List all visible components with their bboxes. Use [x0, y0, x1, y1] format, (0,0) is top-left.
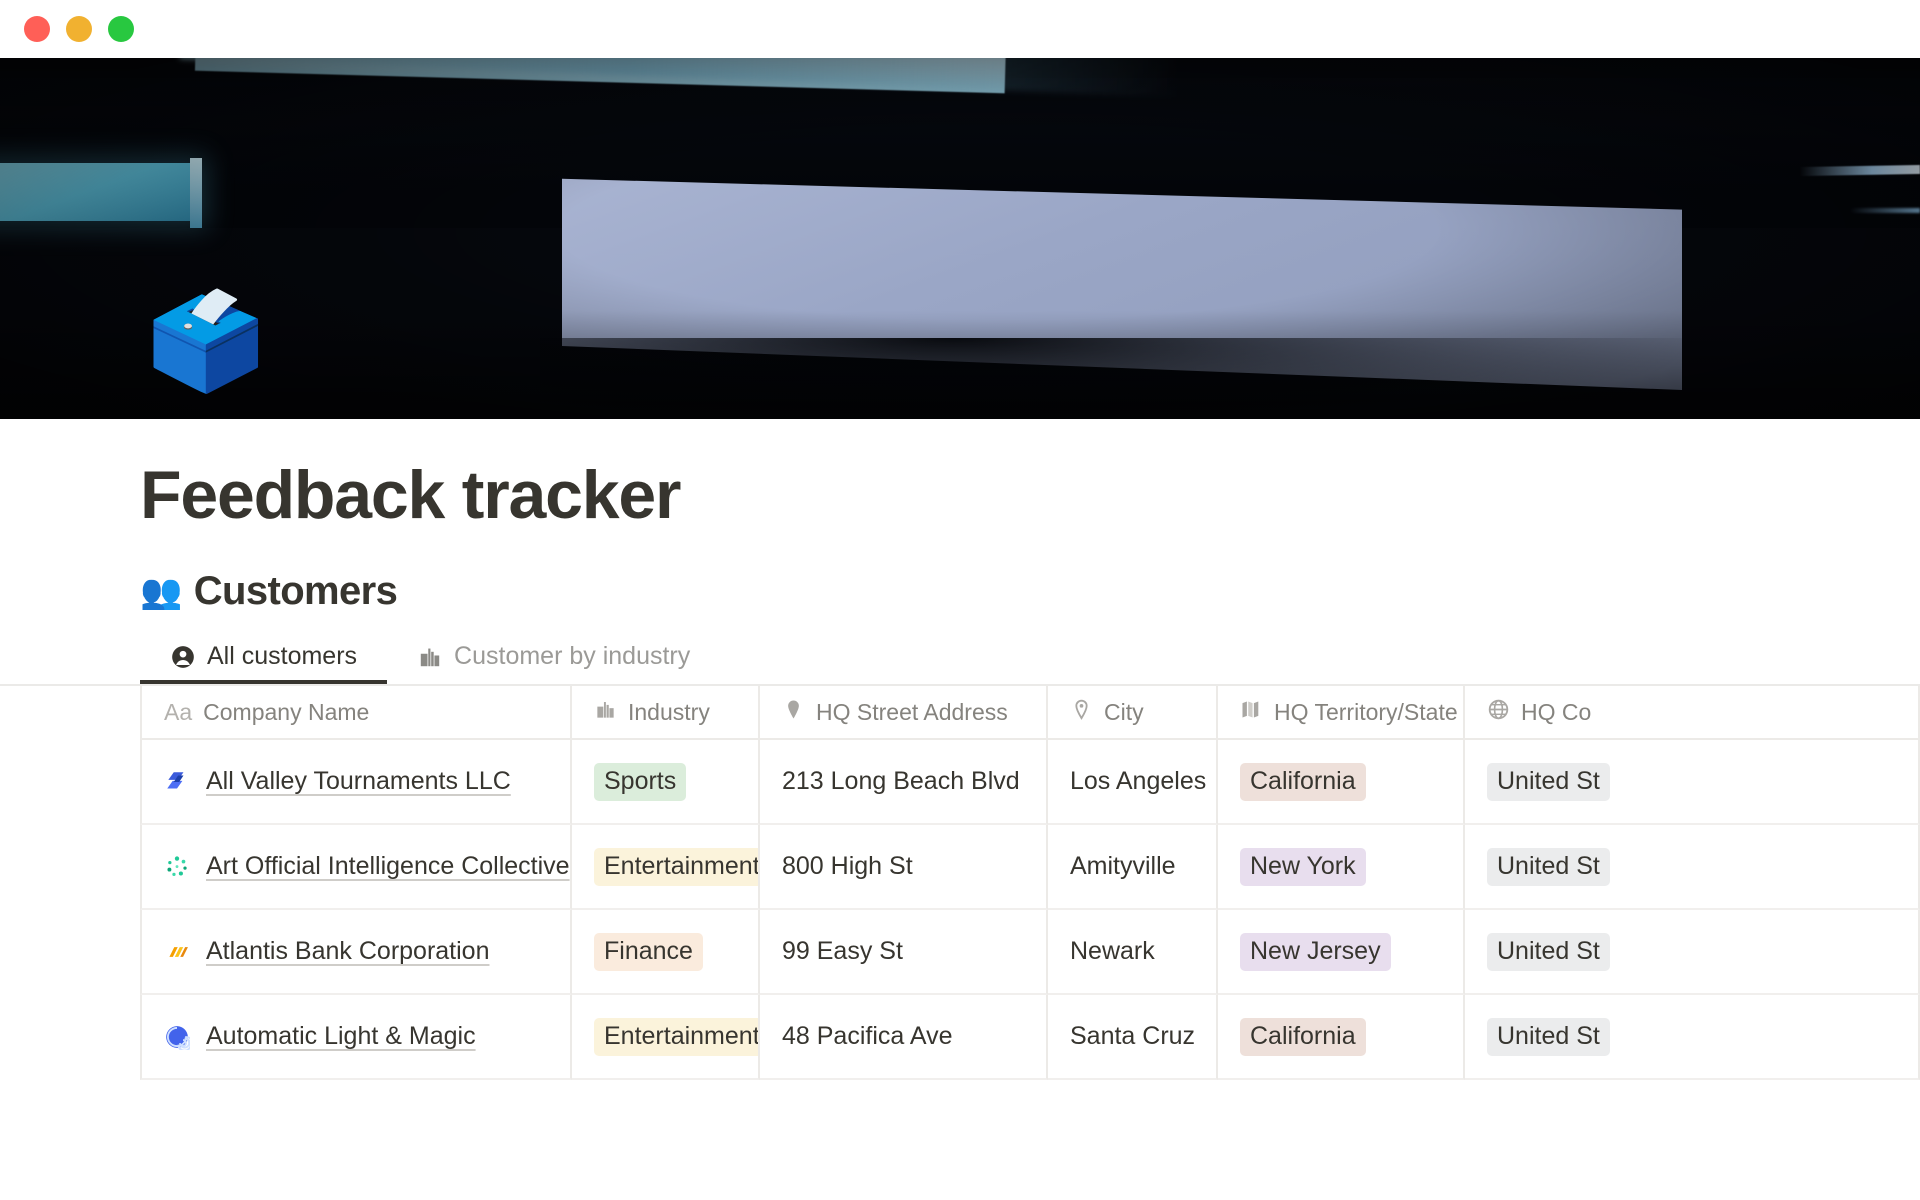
- globe-icon: [1487, 698, 1510, 727]
- section-heading-customers: 👥 Customers: [140, 569, 397, 614]
- window-titlebar: [0, 0, 1920, 58]
- orange-slashes-icon: [164, 939, 190, 965]
- aa-text-icon: Aa: [164, 699, 192, 726]
- teal-dot-ring-icon: [164, 854, 190, 880]
- cell-industry[interactable]: Finance: [572, 910, 760, 995]
- state-tag: New Jersey: [1240, 933, 1391, 971]
- building-icon: [594, 698, 617, 727]
- country-tag: United St: [1487, 763, 1610, 801]
- cell-hq-country[interactable]: United St: [1465, 740, 1920, 825]
- cell-hq-territory-state[interactable]: New Jersey: [1218, 910, 1465, 995]
- folded-map-icon: [1240, 698, 1263, 727]
- column-header-hq-street-address-label: HQ Street Address: [816, 699, 1008, 726]
- country-tag: United St: [1487, 1018, 1610, 1056]
- cell-industry[interactable]: Entertainment: [572, 995, 760, 1080]
- cell-company-name[interactable]: All Valley Tournaments LLC: [140, 740, 572, 825]
- cell-hq-country[interactable]: United St: [1465, 995, 1920, 1080]
- table-row[interactable]: Art Official Intelligence Collective Ent…: [140, 825, 1920, 910]
- cell-hq-country[interactable]: United St: [1465, 825, 1920, 910]
- tab-all-customers-label: All customers: [207, 642, 357, 671]
- tab-all-customers[interactable]: All customers: [140, 642, 387, 685]
- industry-tag: Sports: [594, 763, 686, 801]
- cell-hq-street-address[interactable]: 800 High St: [760, 825, 1048, 910]
- state-tag: California: [1240, 1018, 1366, 1056]
- cell-hq-territory-state[interactable]: New York: [1218, 825, 1465, 910]
- column-header-hq-territory-state[interactable]: HQ Territory/State: [1218, 686, 1465, 740]
- column-header-city-label: City: [1104, 699, 1144, 726]
- column-header-hq-territory-state-label: HQ Territory/State: [1274, 699, 1458, 726]
- tab-customer-by-industry[interactable]: Customer by industry: [387, 642, 720, 685]
- cell-city[interactable]: Los Angeles: [1048, 740, 1218, 825]
- cover-vignette: [0, 58, 1920, 419]
- column-header-hq-country-label: HQ Co: [1521, 699, 1591, 726]
- person-circle-icon: [170, 644, 196, 670]
- map-pin-filled-icon: [782, 698, 805, 727]
- cell-hq-territory-state[interactable]: California: [1218, 995, 1465, 1080]
- column-header-company-name[interactable]: Aa Company Name: [140, 686, 572, 740]
- table-row[interactable]: Automatic Light & Magic Entertainment 48…: [140, 995, 1920, 1080]
- company-name-link[interactable]: All Valley Tournaments LLC: [206, 767, 511, 796]
- column-header-hq-street-address[interactable]: HQ Street Address: [760, 686, 1048, 740]
- cell-company-name[interactable]: Automatic Light & Magic: [140, 995, 572, 1080]
- cell-city[interactable]: Newark: [1048, 910, 1218, 995]
- column-header-city[interactable]: City: [1048, 686, 1218, 740]
- building-icon: [417, 644, 443, 670]
- state-tag: New York: [1240, 848, 1366, 886]
- page-title: Feedback tracker: [140, 456, 680, 534]
- cell-hq-country[interactable]: United St: [1465, 910, 1920, 995]
- blue-spiral-icon: [164, 1024, 190, 1050]
- company-name-link[interactable]: Art Official Intelligence Collective: [206, 852, 570, 881]
- cell-company-name[interactable]: Atlantis Bank Corporation: [140, 910, 572, 995]
- industry-tag: Entertainment: [594, 1018, 760, 1056]
- blue-stacked-parallelograms-icon: [164, 769, 190, 795]
- database-view-tabs: All customers Customer by industry: [140, 639, 720, 685]
- ballot-box-icon[interactable]: 🗳️: [146, 293, 266, 389]
- minimize-window-button[interactable]: [66, 16, 92, 42]
- country-tag: United St: [1487, 848, 1610, 886]
- cell-hq-territory-state[interactable]: California: [1218, 740, 1465, 825]
- table-row[interactable]: All Valley Tournaments LLC Sports 213 Lo…: [140, 740, 1920, 825]
- cell-hq-street-address[interactable]: 213 Long Beach Blvd: [760, 740, 1048, 825]
- page-cover-image: [0, 58, 1920, 419]
- column-header-company-name-label: Company Name: [203, 699, 369, 726]
- cell-city[interactable]: Amityville: [1048, 825, 1218, 910]
- column-header-industry[interactable]: Industry: [572, 686, 760, 740]
- maximize-window-button[interactable]: [108, 16, 134, 42]
- cell-industry[interactable]: Entertainment: [572, 825, 760, 910]
- cell-hq-street-address[interactable]: 99 Easy St: [760, 910, 1048, 995]
- close-window-button[interactable]: [24, 16, 50, 42]
- map-pin-outline-icon: [1070, 698, 1093, 727]
- state-tag: California: [1240, 763, 1366, 801]
- column-header-hq-country[interactable]: HQ Co: [1465, 686, 1920, 740]
- traffic-light-group: [24, 16, 134, 42]
- company-name-link[interactable]: Automatic Light & Magic: [206, 1022, 476, 1051]
- section-heading-label: Customers: [194, 569, 398, 614]
- cell-industry[interactable]: Sports: [572, 740, 760, 825]
- column-header-industry-label: Industry: [628, 699, 710, 726]
- industry-tag: Entertainment: [594, 848, 760, 886]
- table-header-row: Aa Company Name Industry: [140, 686, 1920, 740]
- country-tag: United St: [1487, 933, 1610, 971]
- company-name-link[interactable]: Atlantis Bank Corporation: [206, 937, 489, 966]
- industry-tag: Finance: [594, 933, 703, 971]
- cell-hq-street-address[interactable]: 48 Pacifica Ave: [760, 995, 1048, 1080]
- busts-in-silhouette-icon: 👥: [140, 575, 182, 609]
- cell-city[interactable]: Santa Cruz: [1048, 995, 1218, 1080]
- cell-company-name[interactable]: Art Official Intelligence Collective: [140, 825, 572, 910]
- customers-table: Aa Company Name Industry: [140, 686, 1920, 1080]
- table-row[interactable]: Atlantis Bank Corporation Finance 99 Eas…: [140, 910, 1920, 995]
- tab-customer-by-industry-label: Customer by industry: [454, 642, 690, 671]
